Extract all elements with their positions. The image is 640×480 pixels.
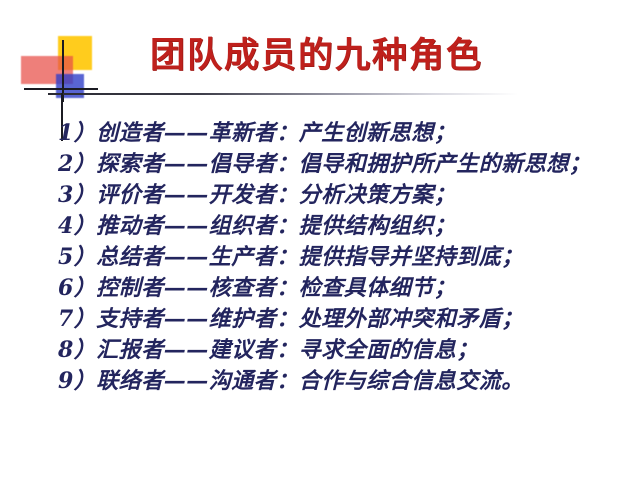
list-item: 1）创造者——革新者：产生创新思想； [58,118,618,149]
decorative-color-blocks-logo [18,34,100,106]
logo-horizontal-line [24,88,98,90]
list-item: 5）总结者——生产者：提供指导并坚持到底； [58,242,618,273]
slide-title: 团队成员的九种角色 [150,38,520,73]
list-item: 2）探索者——倡导者：倡导和拥护所产生的新思想； [58,149,618,180]
list-item: 7）支持者——维护者：处理外部冲突和矛盾； [58,304,618,335]
list-item: 9）联络者——沟通者：合作与综合信息交流。 [58,366,618,397]
role-list: 1）创造者——革新者：产生创新思想； 2）探索者——倡导者：倡导和拥护所产生的新… [58,118,618,397]
list-item: 3）评价者——开发者：分析决策方案； [58,180,618,211]
list-item: 8）汇报者——建议者：寻求全面的信息； [58,335,618,366]
list-item: 4）推动者——组织者：提供结构组织； [58,211,618,242]
list-item: 6）控制者——核查者：检查具体细节； [58,273,618,304]
slide-canvas: 团队成员的九种角色 1）创造者——革新者：产生创新思想； 2）探索者——倡导者：… [0,0,640,480]
title-separator-rule [48,93,518,95]
